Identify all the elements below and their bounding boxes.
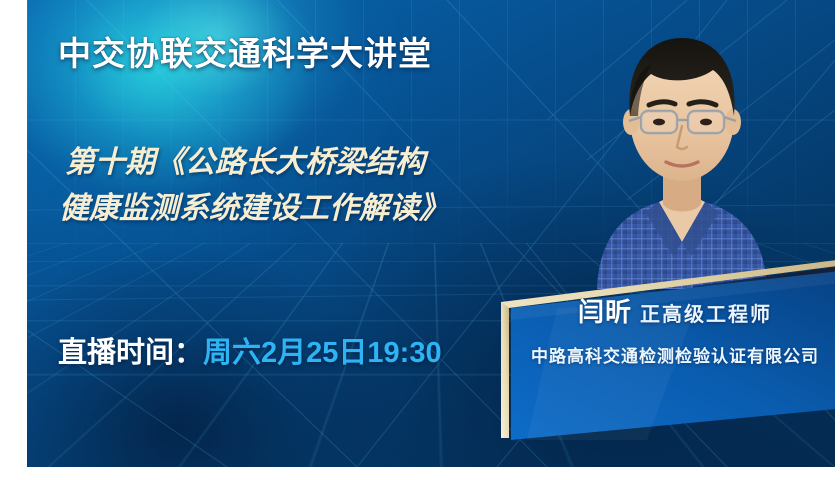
episode-subtitle-line2: 健康监测系统建设工作解读》 — [59, 186, 585, 232]
speaker-name-row: 闫昕正高级工程师 — [497, 292, 835, 329]
live-time-row: 直播时间：周六2月25日19:30 — [58, 329, 442, 371]
speaker-job-title: 正高级工程师 — [640, 304, 772, 326]
speaker-organization: 中路高科交通检测检验认证有限公司 — [497, 342, 835, 367]
live-time-label: 直播时间： — [58, 337, 203, 369]
episode-subtitle: 第十期《公路长大桥梁结构 健康监测系统建设工作解读》 — [65, 140, 585, 232]
page-title: 中交协联交通科学大讲堂 — [58, 27, 432, 75]
poster-canvas: 中交协联交通科学大讲堂 第十期《公路长大桥梁结构 健康监测系统建设工作解读》 直… — [27, 0, 835, 467]
speaker-card: 闫昕正高级工程师 中路高科交通检测检验认证有限公司 — [497, 258, 835, 448]
poster-root: 中交协联交通科学大讲堂 第十期《公路长大桥梁结构 健康监测系统建设工作解读》 直… — [0, 0, 840, 480]
speaker-portrait-photo — [567, 4, 797, 289]
episode-subtitle-line1: 第十期《公路长大桥梁结构 — [65, 146, 425, 179]
live-time-value: 周六2月25日19:30 — [203, 337, 442, 369]
speaker-name: 闫昕 — [578, 297, 632, 327]
